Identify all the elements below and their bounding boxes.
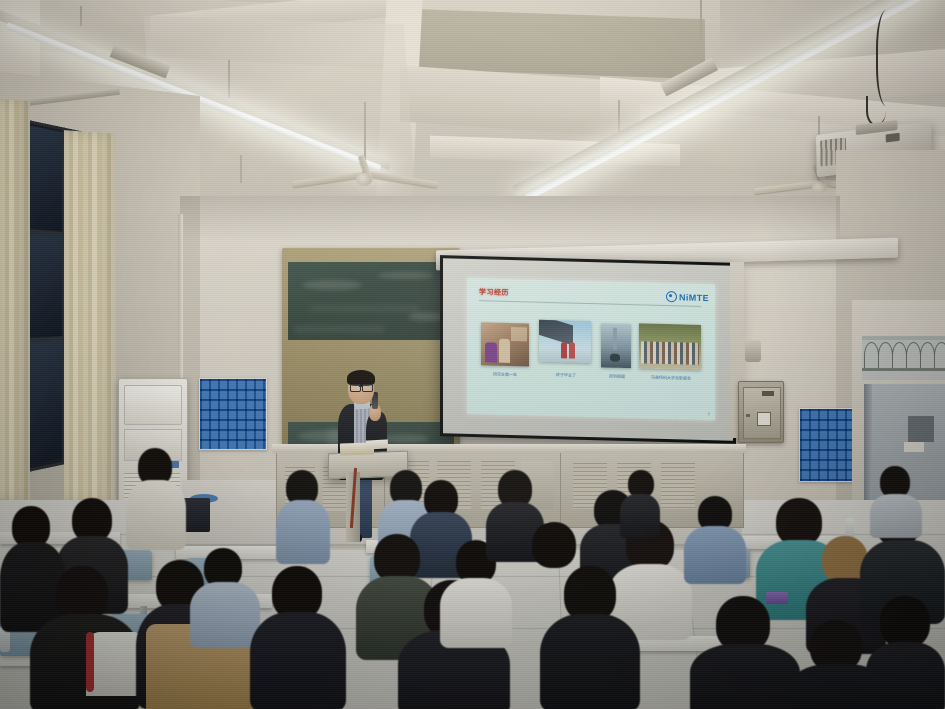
audience-member [30, 566, 140, 709]
poster-right [799, 408, 855, 482]
door-transom-grille [862, 336, 945, 380]
audience-member [684, 496, 746, 580]
phone-screen [766, 592, 788, 604]
presenter-glasses-bridge [359, 386, 362, 387]
window-pane [30, 126, 62, 233]
audience-member [690, 596, 800, 709]
ceiling-hook [240, 155, 242, 183]
slide-photo-2 [539, 320, 591, 363]
slide-photo-4-caption: 马普所科大学合影留念 [635, 374, 707, 382]
curtain-left-inner [64, 130, 116, 504]
audience-member [126, 448, 186, 548]
slide-photo-4 [639, 323, 701, 370]
slide-title: 学习经历 [479, 287, 509, 298]
light-hanger [228, 60, 230, 102]
light-hanger [700, 0, 702, 46]
presenter-glasses-right [362, 384, 373, 392]
screen-surface: 学习经历 NiMTE 研究生第一年 [443, 258, 733, 441]
slide-page-number: 9 [708, 411, 710, 416]
wall-upper-shadow [180, 196, 840, 242]
nimte-logo-mark-icon [666, 291, 677, 302]
slide-photo-3-caption: 初到德国 [597, 373, 637, 380]
classroom-presentation-photo: 学习经历 NiMTE 研究生第一年 [0, 0, 945, 709]
light-hanger [618, 100, 620, 134]
audience-member [276, 470, 330, 562]
slide: 学习经历 NiMTE 研究生第一年 [467, 278, 715, 420]
slide-photo-1-caption: 研究生第一年 [473, 371, 537, 379]
projection-screen: 学习经历 NiMTE 研究生第一年 [440, 255, 736, 444]
nimte-logo-text: NiMTE [679, 292, 709, 303]
light-hanger [80, 6, 82, 26]
curtain-left-outer [0, 99, 30, 501]
slide-photo-1 [481, 322, 529, 366]
blackboard-panel-upper [288, 262, 454, 340]
window-pane [30, 234, 62, 339]
audience-member [250, 566, 346, 709]
slide-photo-2-caption: 终于毕业了 [537, 372, 595, 380]
projector-cable [876, 10, 902, 106]
podium-book [366, 439, 388, 449]
audience-member [790, 620, 886, 709]
electrical-panel [738, 381, 784, 443]
wall-speaker [745, 340, 761, 362]
audience-member [540, 566, 640, 709]
nimte-logo: NiMTE [666, 291, 709, 303]
poster-left [199, 378, 267, 450]
audience-member [620, 470, 660, 532]
ceiling-fan-center [300, 160, 430, 200]
window-pane [30, 341, 62, 464]
audience-member [870, 466, 922, 528]
slide-photo-3 [601, 323, 631, 368]
